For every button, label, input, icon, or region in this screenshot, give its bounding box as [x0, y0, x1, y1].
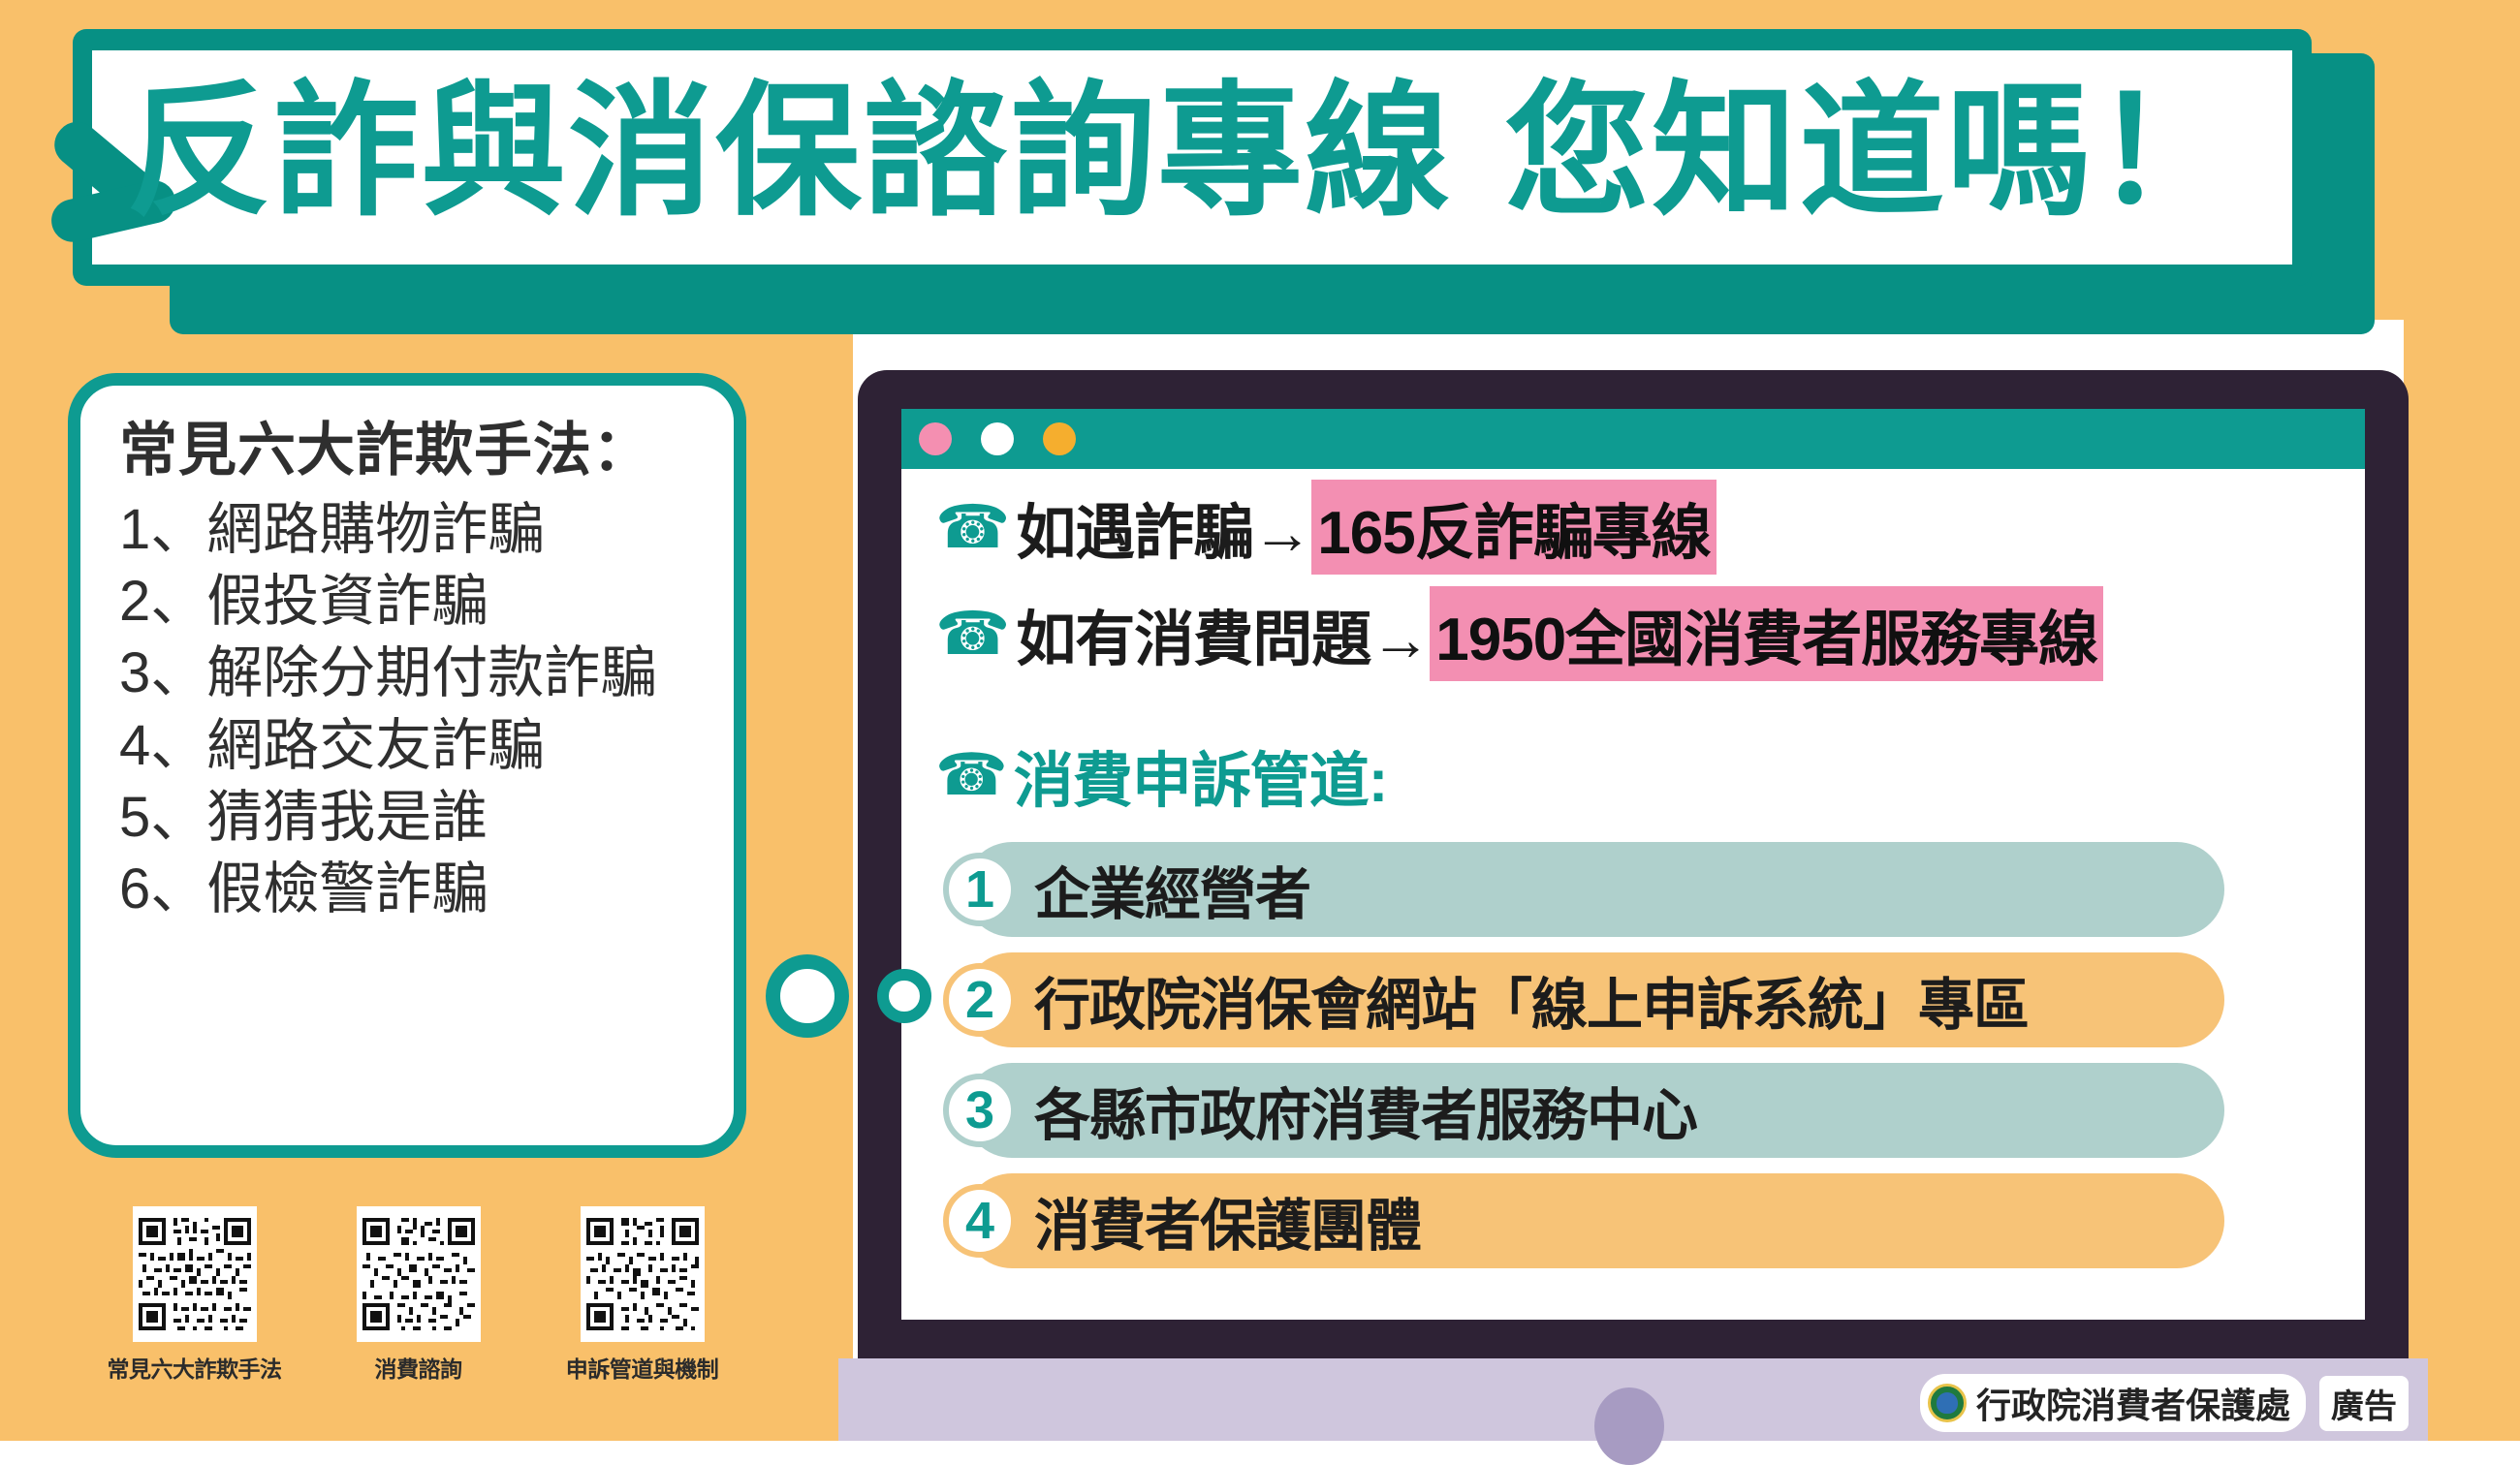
qr-cell-3[interactable]: 申訴管道與機制	[552, 1206, 732, 1384]
channel-label-3: 各縣市政府消費者服務中心	[1034, 1070, 1697, 1151]
telephone-icon: ☎	[935, 746, 1008, 804]
ad-label: 廣告	[2319, 1376, 2409, 1431]
telephone-icon: ☎	[935, 604, 1010, 664]
channel-item-3[interactable]: 3 各縣市政府消費者服務中心	[935, 1063, 2341, 1158]
channel-item-2[interactable]: 2 行政院消保會網站「線上申訴系統」專區	[935, 952, 2341, 1047]
agency-badge: 行政院消費者保護處	[1920, 1374, 2306, 1432]
fraud-method-item-2: 2、假投資詐騙	[119, 566, 712, 638]
hotline-row-2: ☎ 如有消費問題→ 1950全國消費者服務專線	[935, 586, 2341, 681]
background-orange-right	[2404, 0, 2520, 1441]
agency-logo-icon	[1928, 1384, 1967, 1422]
dot-white[interactable]	[981, 422, 1014, 455]
channel-label-1: 企業經營者	[1034, 849, 1310, 930]
telephone-icon: ☎	[935, 497, 1010, 557]
qr-caption-2: 消費諮詢	[375, 1351, 462, 1384]
decorative-ring-large	[766, 954, 849, 1038]
dot-pink[interactable]	[919, 422, 952, 455]
agency-name: 行政院消費者保護處	[1976, 1378, 2290, 1428]
hotline-highlight-2: 1950全國消費者服務專線	[1430, 586, 2103, 681]
fraud-method-item-6: 6、假檢警詐騙	[119, 854, 712, 925]
fraud-method-item-4: 4、網路交友詐騙	[119, 710, 712, 782]
fraud-methods-heading: 常見六大詐欺手法：	[119, 414, 712, 486]
channel-number-1: 1	[943, 853, 1017, 926]
hotline-row-1: ☎ 如遇詐騙→ 165反詐騙專線	[935, 480, 2341, 575]
channel-label-4: 消費者保護團體	[1034, 1180, 1421, 1262]
hotline-lead-2: 如有消費問題→	[1016, 590, 1430, 677]
fraud-method-item-5: 5、猜猜我是誰	[119, 782, 712, 854]
window-controls	[919, 422, 1076, 455]
fraud-method-item-3: 3、解除分期付款詐騙	[119, 638, 712, 709]
channel-number-2: 2	[943, 963, 1017, 1037]
qr-code-icon[interactable]	[133, 1206, 257, 1342]
complaint-channels-heading-text: 消費申訴管道:	[1014, 732, 1388, 819]
channel-label-2: 行政院消保會網站「線上申訴系統」專區	[1034, 959, 2029, 1041]
channel-item-1[interactable]: 1 企業經營者	[935, 842, 2341, 937]
page-title: 反詐與消保諮詢專線 您知道嗎！	[126, 41, 2355, 264]
channel-number-3: 3	[943, 1074, 1017, 1147]
complaint-channels-heading: ☎ 消費申訴管道:	[935, 732, 2341, 819]
qr-caption-3: 申訴管道與機制	[566, 1351, 719, 1384]
qr-code-icon[interactable]	[357, 1206, 481, 1342]
hotline-lead-1: 如遇詐騙→	[1016, 483, 1311, 571]
footer-badge: 行政院消費者保護處 廣告	[1920, 1374, 2409, 1432]
decorative-ring-small	[877, 969, 931, 1023]
qr-code-icon[interactable]	[581, 1206, 705, 1342]
qr-cell-2[interactable]: 消費諮詢	[329, 1206, 508, 1384]
qr-code-row: 常見六大詐欺手法 消費諮詢 申訴管道與機制	[78, 1206, 834, 1400]
fraud-methods-content: 常見六大詐欺手法： 1、網路購物詐騙 2、假投資詐騙 3、解除分期付款詐騙 4、…	[92, 392, 722, 1138]
poster-stage: 反詐與消保諮詢專線 您知道嗎！ 常見六大詐欺手法： 1、網路購物詐騙 2、假投資…	[0, 0, 2520, 1441]
agency-logo-inner	[1937, 1392, 1958, 1414]
channel-item-4[interactable]: 4 消費者保護團體	[935, 1173, 2341, 1268]
qr-caption-1: 常見六大詐欺手法	[108, 1351, 282, 1384]
fraud-method-item-1: 1、網路購物詐騙	[119, 494, 712, 566]
dot-orange[interactable]	[1043, 422, 1076, 455]
window-titlebar	[901, 409, 2365, 469]
qr-cell-1[interactable]: 常見六大詐欺手法	[105, 1206, 284, 1384]
hotline-highlight-1: 165反詐騙專線	[1311, 480, 1716, 575]
laptop-trackpad	[1594, 1387, 1664, 1465]
channel-number-4: 4	[943, 1184, 1017, 1258]
screen-content: ☎ 如遇詐騙→ 165反詐騙專線 ☎ 如有消費問題→ 1950全國消費者服務專線…	[935, 480, 2341, 1303]
